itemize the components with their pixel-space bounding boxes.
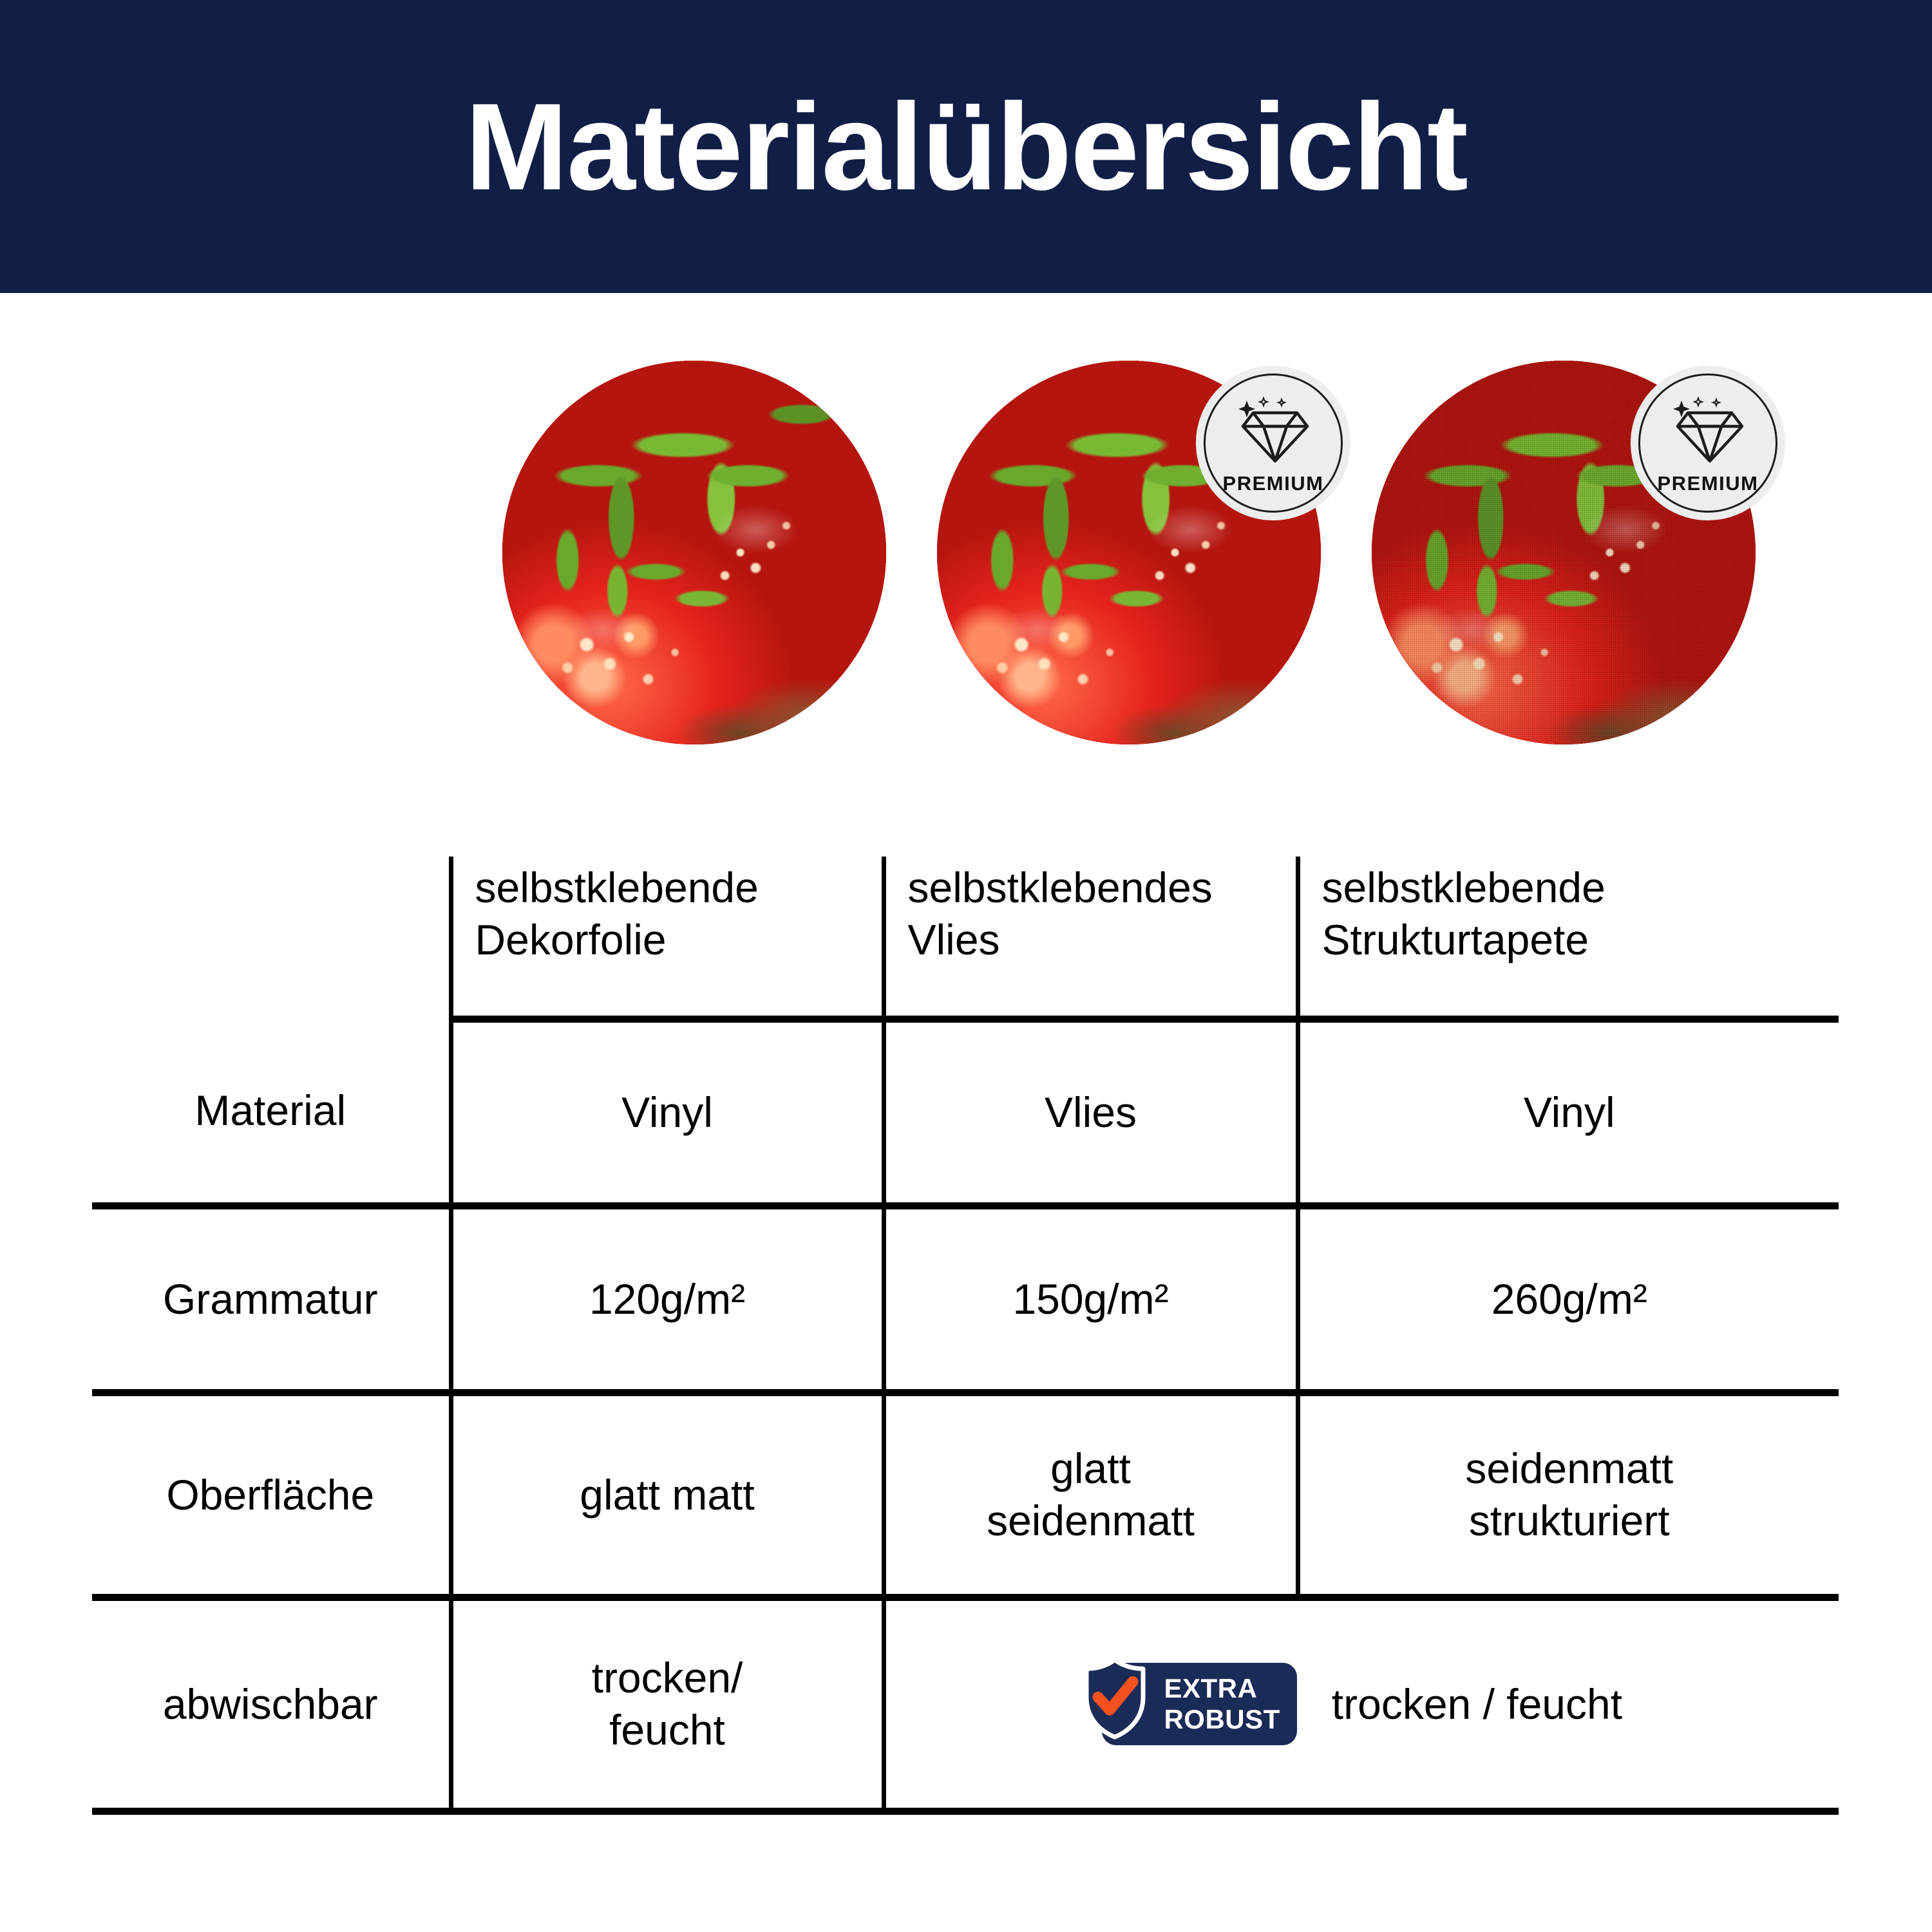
page-header-banner: Materialübersicht xyxy=(0,0,1932,293)
material-spec-table-wrapper: selbstklebende Dekorfolie selbstklebende… xyxy=(92,857,1839,1815)
cell-grammatur-vlies: 150g/m² xyxy=(884,1206,1298,1392)
cell-grammatur-strukturtapete: 260g/m² xyxy=(1298,1206,1839,1392)
row-label-material: Material xyxy=(92,1019,451,1206)
robust-line-1: EXTRA xyxy=(1164,1675,1257,1702)
product-image-strukturtapete: PREMIUM xyxy=(1372,361,1756,744)
cell-abwischbar-dekorfolie: trocken/ feucht xyxy=(451,1597,884,1811)
cell-line-2: strukturiert xyxy=(1317,1495,1823,1547)
row-label-grammatur: Grammatur xyxy=(92,1206,451,1392)
header-cell-strukturtapete: selbstklebende Strukturtapete xyxy=(1298,857,1839,1019)
cell-grammatur-dekorfolie: 120g/m² xyxy=(451,1206,884,1392)
table-header-row: selbstklebende Dekorfolie selbstklebende… xyxy=(92,857,1839,1019)
product-image-vlies: PREMIUM xyxy=(937,361,1321,744)
material-spec-table: selbstklebende Dekorfolie selbstklebende… xyxy=(92,857,1839,1815)
shield-check-icon xyxy=(1081,1657,1148,1751)
product-image-dekorfolie xyxy=(502,361,886,744)
extra-robust-badge: EXTRA ROBUST xyxy=(1102,1663,1296,1745)
cell-line-1: glatt xyxy=(903,1443,1279,1495)
cell-oberflaeche-vlies: glatt seidenmatt xyxy=(884,1392,1298,1597)
table-row-oberflaeche: Oberfläche glatt matt glatt seidenmatt s… xyxy=(92,1392,1839,1597)
diamond-icon xyxy=(1670,397,1746,468)
cell-material-vlies: Vlies xyxy=(884,1019,1298,1206)
cell-material-dekorfolie: Vinyl xyxy=(451,1019,884,1206)
cell-abwischbar-merged-text: trocken / feucht xyxy=(1332,1678,1622,1730)
cell-line-2: seidenmatt xyxy=(903,1495,1279,1547)
premium-badge-label: PREMIUM xyxy=(1223,472,1324,495)
header-cell-empty xyxy=(92,857,451,1019)
premium-badge-label: PREMIUM xyxy=(1658,472,1759,495)
diamond-icon xyxy=(1235,397,1311,468)
table-row-material: Material Vinyl Vlies Vinyl xyxy=(92,1019,1839,1206)
header-cell-vlies: selbstklebendes Vlies xyxy=(884,857,1298,1019)
cell-material-strukturtapete: Vinyl xyxy=(1298,1019,1839,1206)
robust-line-2: ROBUST xyxy=(1164,1706,1280,1733)
table-row-abwischbar: abwischbar trocken/ feucht xyxy=(92,1597,1839,1811)
cell-abwischbar-merged: EXTRA ROBUST trocken / feucht xyxy=(884,1597,1839,1811)
cell-oberflaeche-dekorfolie: glatt matt xyxy=(451,1392,884,1597)
cell-line-1: trocken/ xyxy=(470,1652,865,1704)
cell-line-2: feucht xyxy=(470,1704,865,1756)
premium-badge-strukturtapete: PREMIUM xyxy=(1631,366,1785,520)
header-cell-dekorfolie: selbstklebende Dekorfolie xyxy=(451,857,884,1019)
page-title: Materialübersicht xyxy=(465,85,1467,209)
cell-oberflaeche-strukturtapete: seidenmatt strukturiert xyxy=(1298,1392,1839,1597)
product-image-strip: PREMIUM P xyxy=(0,293,1932,802)
tomato-photo-circle-1 xyxy=(502,361,886,744)
cell-line-1: seidenmatt xyxy=(1317,1443,1823,1495)
row-label-abwischbar: abwischbar xyxy=(92,1597,451,1811)
premium-badge-vlies: PREMIUM xyxy=(1196,366,1350,520)
row-label-oberflaeche: Oberfläche xyxy=(92,1392,451,1597)
table-row-grammatur: Grammatur 120g/m² 150g/m² 260g/m² xyxy=(92,1206,1839,1392)
extra-robust-label: EXTRA ROBUST xyxy=(1164,1675,1280,1733)
water-droplets xyxy=(502,361,886,744)
